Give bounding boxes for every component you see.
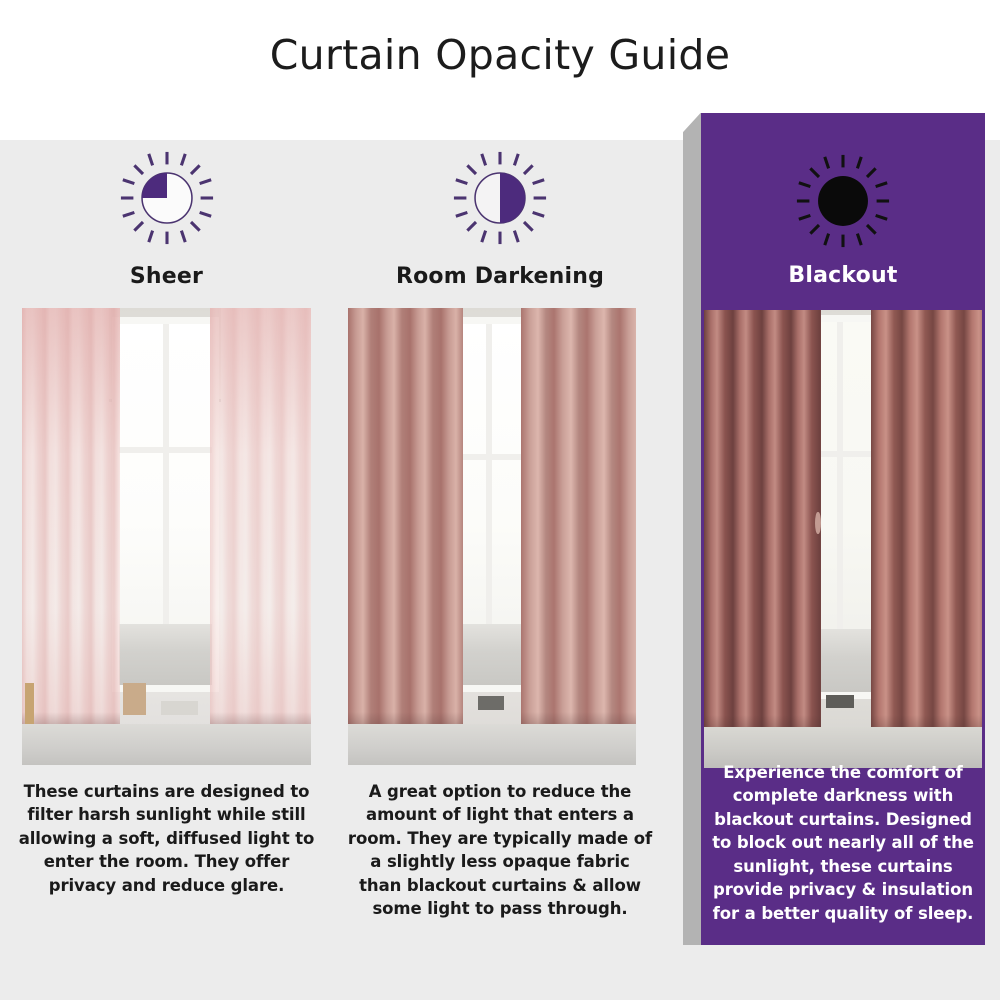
column-label-sheer: Sheer [0, 264, 333, 289]
column-description-blackout: Experience the comfort of complete darkn… [711, 761, 975, 925]
sun-quarter-filled-icon [0, 148, 333, 248]
page-title: Curtain Opacity Guide [270, 35, 731, 106]
column-blackout[interactable]: Blackout Experience the comfort of compl… [701, 113, 985, 945]
curtain-opacity-guide-page: Curtain Opacity Guide [0, 0, 1000, 1000]
curtain-photo-room-darkening [348, 308, 636, 765]
column-label-room-darkening: Room Darkening [333, 264, 667, 289]
column-description-room-darkening: A great option to reduce the amount of l… [347, 780, 653, 921]
curtain-photo-blackout [704, 310, 982, 768]
sun-fully-filled-icon [701, 151, 985, 251]
sun-half-filled-icon [333, 148, 667, 248]
column-description-sheer: These curtains are designed to filter ha… [14, 780, 319, 897]
curtain-photo-sheer [22, 308, 311, 765]
column-label-blackout: Blackout [701, 263, 985, 288]
